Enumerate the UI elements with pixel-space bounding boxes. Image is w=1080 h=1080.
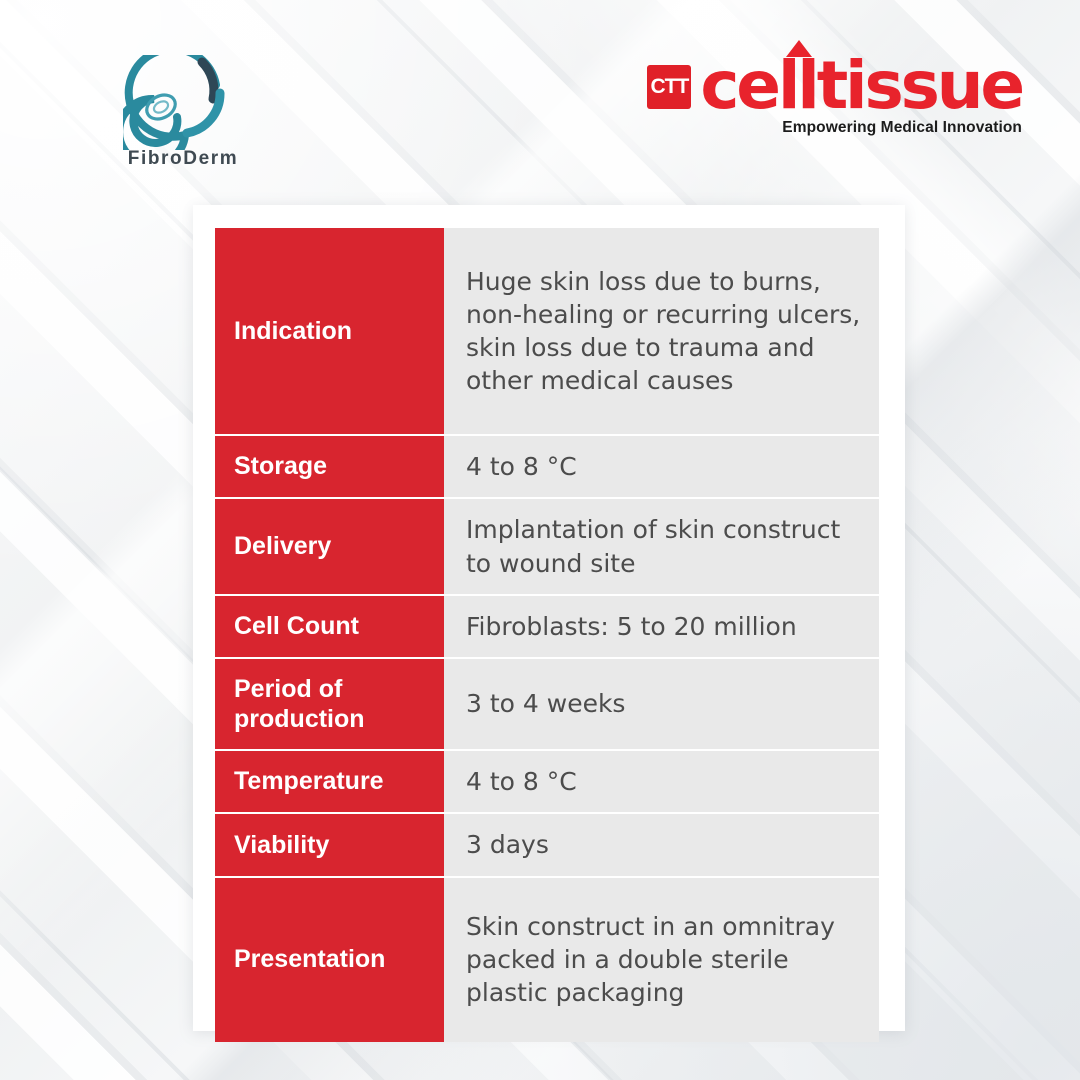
table-row: Indication Huge skin loss due to burns, … — [215, 228, 879, 435]
celltissue-logo: CTT celltissue Empowering Medical Innova… — [647, 56, 1022, 156]
row-value-temperature: 4 to 8 °C — [444, 750, 879, 813]
table-row: Temperature 4 to 8 °C — [215, 750, 879, 813]
row-value-presentation: Skin construct in an omnitray packed in … — [444, 877, 879, 1042]
specification-table-body: Indication Huge skin loss due to burns, … — [215, 228, 879, 1042]
row-value-viability: 3 days — [444, 813, 879, 876]
row-label-temperature: Temperature — [215, 750, 444, 813]
row-label-delivery: Delivery — [215, 498, 444, 595]
spec-card-frame: Indication Huge skin loss due to burns, … — [193, 205, 905, 1031]
fibroderm-spiral-icon — [123, 55, 243, 150]
row-value-delivery: Implantation of skin construct to wound … — [444, 498, 879, 595]
row-value-cell-count: Fibroblasts: 5 to 20 million — [444, 595, 879, 658]
celltissue-wordmark-wrap: celltissue — [700, 56, 1022, 117]
row-label-period-of-production: Period of production — [215, 658, 444, 750]
table-row: Delivery Implantation of skin construct … — [215, 498, 879, 595]
row-label-indication: Indication — [215, 228, 444, 435]
row-value-indication: Huge skin loss due to burns, non-healing… — [444, 228, 879, 435]
celltissue-wordmark: celltissue — [700, 56, 1022, 117]
table-row: Period of production 3 to 4 weeks — [215, 658, 879, 750]
ctt-badge-icon: CTT — [647, 65, 691, 109]
page-canvas: FibroDerm CTT celltissue Empowering Medi… — [0, 0, 1080, 1080]
fibroderm-wordmark: FibroDerm — [78, 148, 288, 170]
row-label-viability: Viability — [215, 813, 444, 876]
row-value-storage: 4 to 8 °C — [444, 435, 879, 498]
table-row: Presentation Skin construct in an omnitr… — [215, 877, 879, 1042]
table-row: Viability 3 days — [215, 813, 879, 876]
celltissue-logo-row: CTT celltissue — [647, 56, 1022, 117]
row-label-presentation: Presentation — [215, 877, 444, 1042]
fibroderm-logo: FibroDerm — [78, 55, 288, 180]
row-label-storage: Storage — [215, 435, 444, 498]
table-row: Cell Count Fibroblasts: 5 to 20 million — [215, 595, 879, 658]
row-value-period-of-production: 3 to 4 weeks — [444, 658, 879, 750]
ctt-badge-label: CTT — [650, 76, 688, 97]
row-label-cell-count: Cell Count — [215, 595, 444, 658]
caret-up-accent-icon — [786, 40, 812, 57]
specification-table: Indication Huge skin loss due to burns, … — [215, 228, 879, 1042]
table-row: Storage 4 to 8 °C — [215, 435, 879, 498]
